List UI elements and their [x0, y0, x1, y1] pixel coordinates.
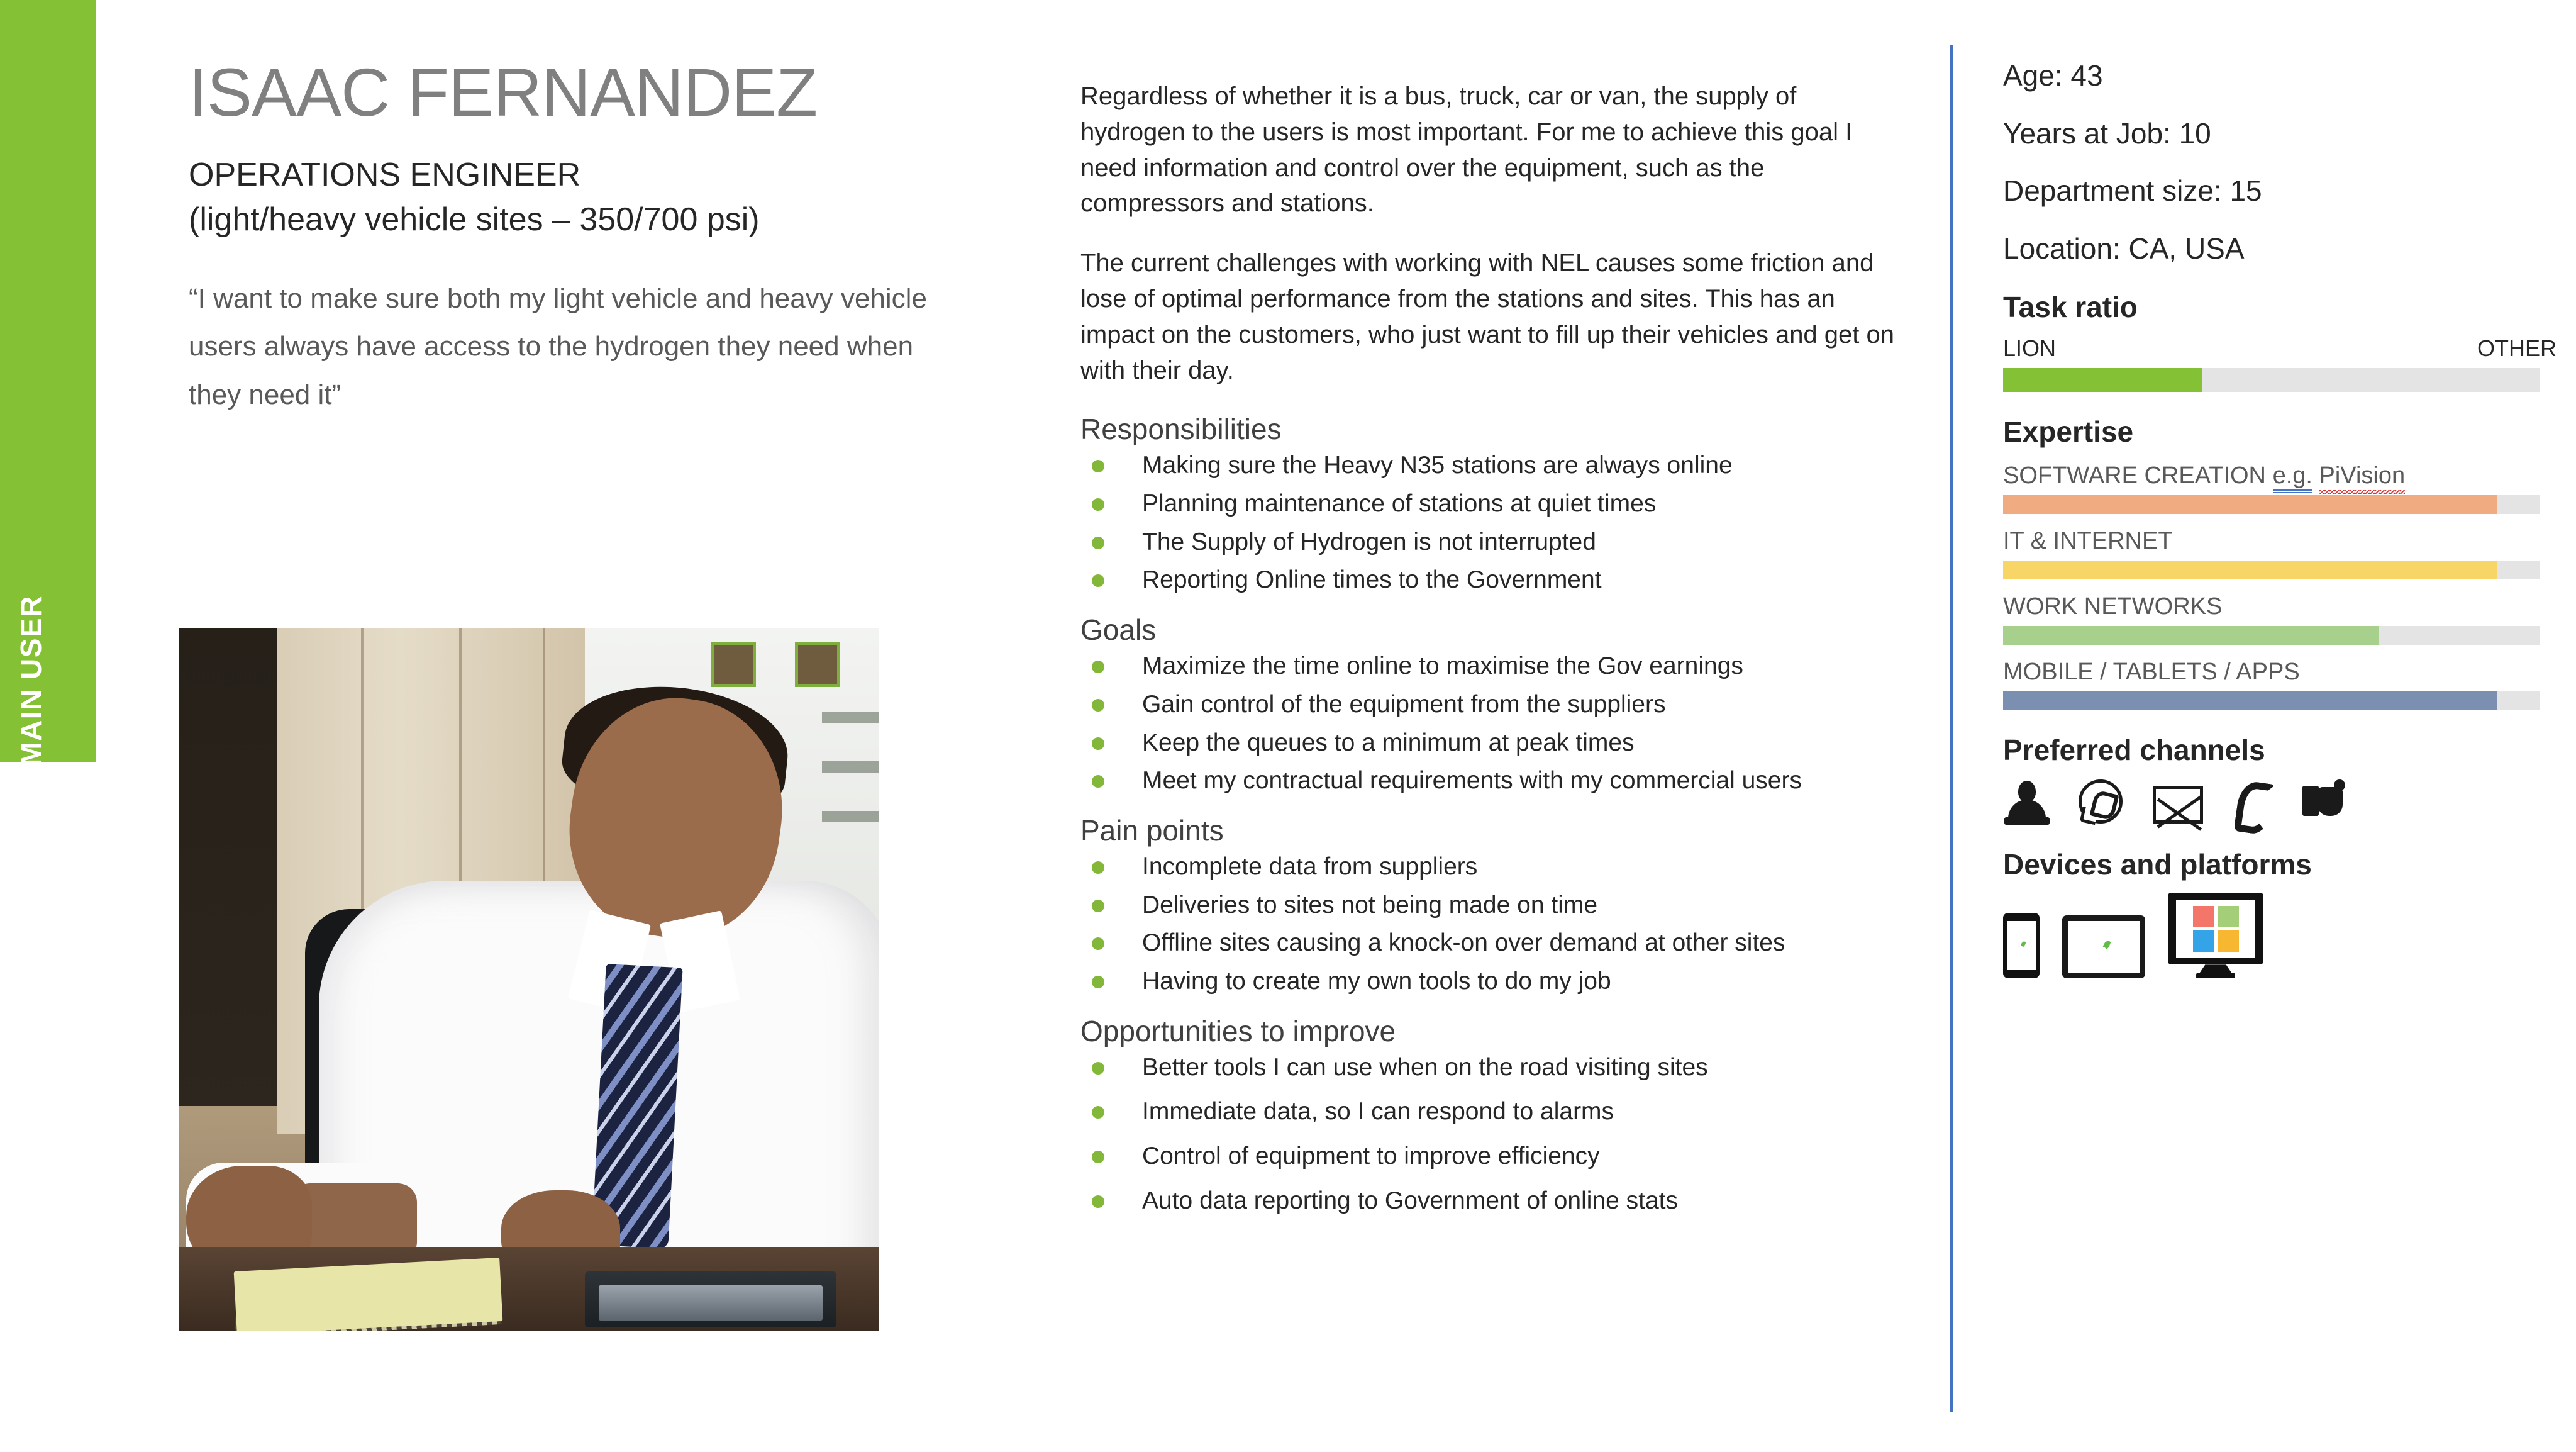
stat-age: Age: 43: [2003, 60, 2557, 92]
expertise-bar-fill: [2003, 691, 2497, 710]
list-item-label: Planning maintenance of stations at quie…: [1142, 488, 1656, 520]
list-item-label: Reporting Online times to the Government: [1142, 564, 1602, 596]
list-item-label: Having to create my own tools to do my j…: [1142, 966, 1611, 998]
windows-desktop-icon[interactable]: [2168, 893, 2263, 978]
list-item-label: Better tools I can use when on the road …: [1142, 1052, 1708, 1084]
person-name: ISAAC FERNANDEZ: [189, 57, 1025, 128]
main-user-band: MAIN USER: [0, 0, 96, 762]
section-heading-opportunities: Opportunities to improve: [1080, 1014, 1926, 1048]
windows-desktop-icon-bezel: [2168, 893, 2263, 964]
list-item: Keep the queues to a minimum at peak tim…: [1080, 727, 1926, 759]
list-item: Gain control of the equipment from the s…: [1080, 689, 1926, 721]
list-item: Control of equipment to improve efficien…: [1080, 1141, 1926, 1173]
bullet-icon: [1092, 498, 1104, 511]
expertise-label: IT & INTERNET: [2003, 528, 2173, 555]
list-item-label: Control of equipment to improve efficien…: [1142, 1141, 1600, 1173]
list-item-label: Gain control of the equipment from the s…: [1142, 689, 1665, 721]
expertise-label: SOFTWARE CREATION e.g. PiVision: [2003, 462, 2405, 489]
bullet-icon: [1092, 661, 1104, 673]
iphone-icon[interactable]: [2003, 913, 2040, 978]
responsibilities-list: Making sure the Heavy N35 stations are a…: [1080, 450, 1926, 596]
expertise-item-it-internet: IT & INTERNET: [2003, 528, 2557, 579]
windows-logo-icon: [2193, 906, 2239, 952]
list-item-label: Incomplete data from suppliers: [1142, 851, 1477, 883]
task-ratio-right-label: OTHER: [2477, 335, 2557, 362]
column-divider: [1950, 45, 1953, 1412]
person-quote: “I want to make sure both my light vehic…: [189, 275, 931, 420]
expertise-bar-fill: [2003, 561, 2497, 579]
expertise-label-space: [2312, 462, 2319, 489]
bullet-icon: [1092, 1195, 1104, 1208]
whatsapp-icon[interactable]: [2077, 778, 2124, 825]
main-user-band-label: MAIN USER: [14, 595, 48, 766]
bullet-icon: [1092, 574, 1104, 587]
stat-department-size: Department size: 15: [2003, 175, 2557, 207]
task-ratio-labels: LION OTHER: [2003, 335, 2557, 362]
person-photo: [179, 628, 879, 1331]
section-heading-responsibilities: Responsibilities: [1080, 412, 1926, 446]
expertise-label: MOBILE / TABLETS / APPS: [2003, 659, 2300, 686]
photo-wall-note: [795, 642, 840, 687]
in-person-icon-base: [2004, 817, 2050, 825]
iphone-icon-screen: [2007, 921, 2036, 970]
expertise-label-text: SOFTWARE CREATION: [2003, 462, 2273, 489]
task-ratio-bar-track: [2003, 368, 2540, 392]
task-ratio-left-label: LION: [2003, 335, 2056, 362]
opportunities-list: Better tools I can use when on the road …: [1080, 1052, 1926, 1217]
main-content-column: Regardless of whether it is a bus, truck…: [1080, 79, 1926, 1229]
list-item: Making sure the Heavy N35 stations are a…: [1080, 450, 1926, 482]
apple-logo-bite: [2098, 947, 2107, 956]
email-icon[interactable]: [2151, 778, 2198, 825]
expertise-bar-fill: [2003, 495, 2497, 514]
windows-logo-quadrant: [2218, 906, 2239, 927]
ipad-icon[interactable]: [2062, 915, 2145, 978]
preferred-channels-heading: Preferred channels: [2003, 733, 2557, 767]
windows-logo-quadrant: [2193, 930, 2214, 952]
expertise-item-work-networks: WORK NETWORKS: [2003, 593, 2557, 645]
stat-location: Location: CA, USA: [2003, 233, 2557, 265]
list-item-label: The Supply of Hydrogen is not interrupte…: [1142, 527, 1596, 559]
list-item-label: Immediate data, so I can respond to alar…: [1142, 1096, 1614, 1128]
list-item-label: Keep the queues to a minimum at peak tim…: [1142, 727, 1635, 759]
person-role: OPERATIONS ENGINEER (light/heavy vehicle…: [189, 153, 1025, 242]
bullet-icon: [1092, 900, 1104, 912]
list-item: Incomplete data from suppliers: [1080, 851, 1926, 883]
bullet-icon: [1092, 1151, 1104, 1163]
email-icon-envelope: [2153, 786, 2203, 824]
email-icon-flap: [2157, 798, 2202, 831]
person-role-line-1: OPERATIONS ENGINEER: [189, 153, 1025, 198]
photo-tablet-screen: [599, 1285, 823, 1321]
list-item: Better tools I can use when on the road …: [1080, 1052, 1926, 1084]
bullet-icon: [1092, 976, 1104, 988]
devices-and-platforms-heading: Devices and platforms: [2003, 847, 2557, 881]
bullet-icon: [1092, 537, 1104, 549]
list-item-label: Making sure the Heavy N35 stations are a…: [1142, 450, 1733, 482]
person-role-line-2: (light/heavy vehicle sites – 350/700 psi…: [189, 198, 1025, 242]
bullet-icon: [1092, 775, 1104, 788]
ipad-icon-screen: [2068, 921, 2140, 973]
section-heading-goals: Goals: [1080, 613, 1926, 647]
stats-column: Age: 43 Years at Job: 10 Department size…: [2003, 60, 2557, 978]
expertise-label: WORK NETWORKS: [2003, 593, 2222, 620]
expertise-bar-fill: [2003, 626, 2379, 645]
expertise-bar-track: [2003, 561, 2540, 579]
bullet-icon: [1092, 737, 1104, 750]
expertise-bar-track: [2003, 626, 2540, 645]
expertise-bar-track: [2003, 691, 2540, 710]
list-item: The Supply of Hydrogen is not interrupte…: [1080, 527, 1926, 559]
microsoft-teams-icon-dot: [2334, 779, 2345, 791]
task-ratio-bar-fill: [2003, 368, 2202, 392]
microsoft-teams-icon-shield: [2318, 787, 2343, 816]
list-item-label: Deliveries to sites not being made on ti…: [1142, 890, 1597, 922]
photo-wall-note: [711, 642, 756, 687]
list-item: Auto data reporting to Government of onl…: [1080, 1185, 1926, 1217]
bullet-icon: [1092, 1106, 1104, 1119]
apple-logo-bite: [2018, 946, 2023, 951]
preferred-channels-row: [2003, 778, 2557, 825]
bullet-icon: [1092, 861, 1104, 874]
expertise-item-mobile-tablets-apps: MOBILE / TABLETS / APPS: [2003, 659, 2557, 710]
list-item: Reporting Online times to the Government: [1080, 564, 1926, 596]
list-item: Offline sites causing a knock-on over de…: [1080, 927, 1926, 959]
phone-icon-handset: [2234, 780, 2276, 836]
list-item: Having to create my own tools to do my j…: [1080, 966, 1926, 998]
stat-years-at-job: Years at Job: 10: [2003, 118, 2557, 150]
list-item-label: Offline sites causing a knock-on over de…: [1142, 927, 1785, 959]
microsoft-teams-icon-t: [2302, 786, 2319, 816]
in-person-icon[interactable]: [2003, 778, 2050, 825]
list-item: Meet my contractual requirements with my…: [1080, 765, 1926, 797]
spellcheck-grammar-underline: e.g.: [2273, 462, 2312, 493]
windows-desktop-icon-foot: [2196, 973, 2235, 978]
list-item: Maximize the time online to maximise the…: [1080, 651, 1926, 683]
windows-logo-quadrant: [2218, 930, 2239, 952]
microsoft-teams-icon[interactable]: [2300, 778, 2346, 825]
list-item-label: Meet my contractual requirements with my…: [1142, 765, 1802, 797]
windows-desktop-icon-stand: [2199, 964, 2232, 973]
bullet-icon: [1092, 1062, 1104, 1075]
expertise-heading: Expertise: [2003, 415, 2557, 449]
narrative-paragraph-2: The current challenges with working with…: [1080, 245, 1898, 388]
bullet-icon: [1092, 937, 1104, 950]
pain-points-list: Incomplete data from suppliers Deliverie…: [1080, 851, 1926, 998]
list-item-label: Maximize the time online to maximise the…: [1142, 651, 1743, 683]
list-item: Deliveries to sites not being made on ti…: [1080, 890, 1926, 922]
section-heading-pain-points: Pain points: [1080, 813, 1926, 847]
photo-scene: [179, 628, 879, 1331]
list-item-label: Auto data reporting to Government of onl…: [1142, 1185, 1678, 1217]
windows-logo-quadrant: [2193, 906, 2214, 927]
task-ratio-heading: Task ratio: [2003, 290, 2557, 324]
photo-blind-slat: [822, 811, 879, 822]
windows-desktop-icon-screen: [2176, 900, 2255, 958]
bullet-icon: [1092, 460, 1104, 472]
identity-column: ISAAC FERNANDEZ OPERATIONS ENGINEER (lig…: [189, 57, 1025, 419]
spellcheck-spelling-underline: PiVision: [2319, 462, 2406, 494]
expertise-item-software-creation: SOFTWARE CREATION e.g. PiVision: [2003, 462, 2557, 514]
list-item: Immediate data, so I can respond to alar…: [1080, 1096, 1926, 1128]
bullet-icon: [1092, 699, 1104, 712]
photo-blind-slat: [822, 761, 879, 773]
list-item: Planning maintenance of stations at quie…: [1080, 488, 1926, 520]
photo-blind-slat: [822, 712, 879, 723]
goals-list: Maximize the time online to maximise the…: [1080, 651, 1926, 797]
devices-row: [2003, 893, 2557, 978]
photo-wall: [179, 628, 291, 1134]
phone-icon[interactable]: [2226, 778, 2272, 825]
in-person-icon-head: [2018, 781, 2036, 802]
expertise-bar-track: [2003, 495, 2540, 514]
narrative-paragraph-1: Regardless of whether it is a bus, truck…: [1080, 79, 1898, 221]
